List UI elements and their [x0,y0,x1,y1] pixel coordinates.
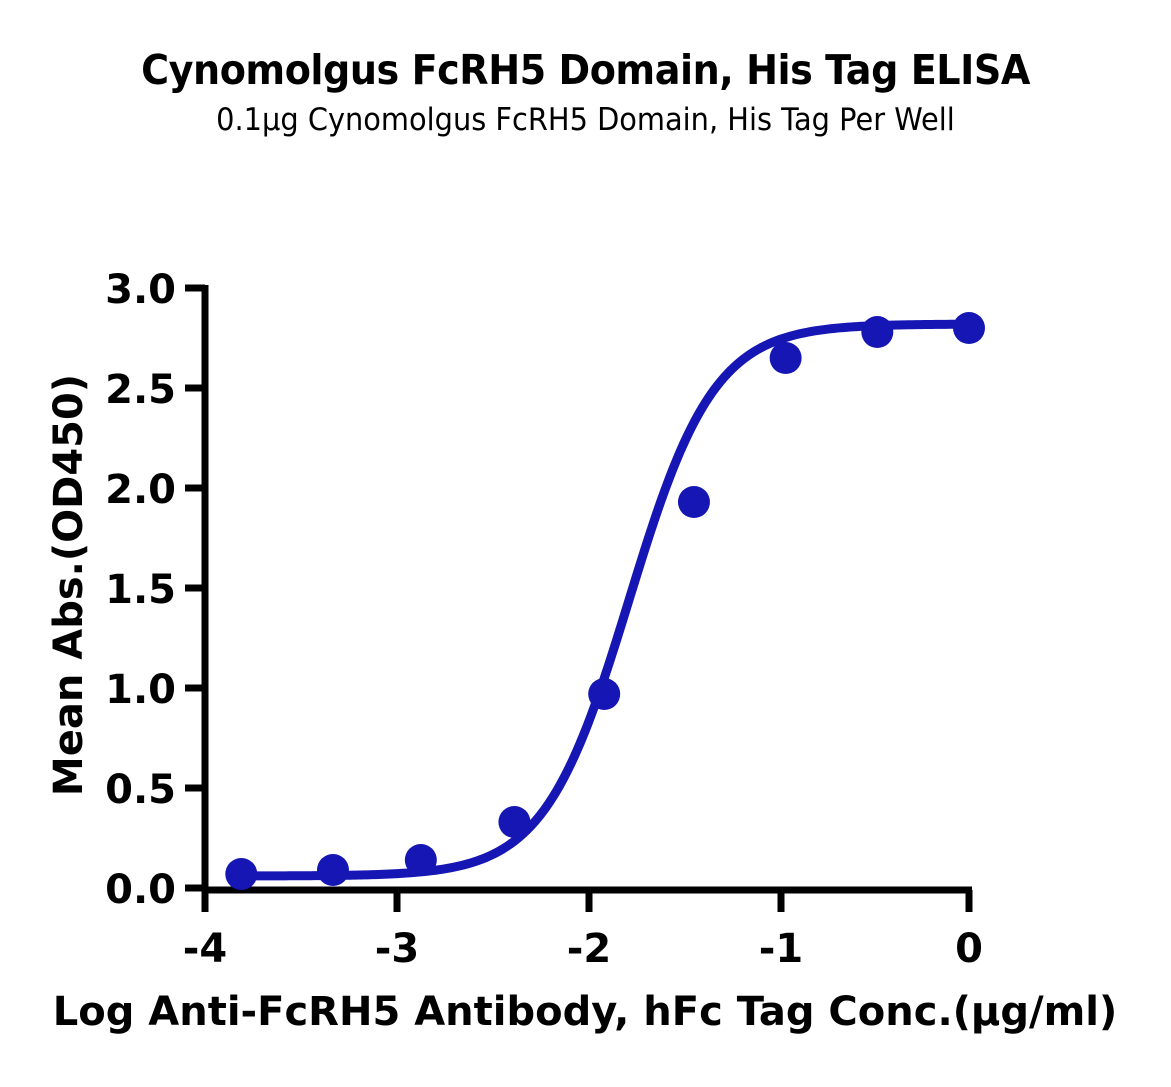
plot-area: 3.0 2.5 2.0 1.5 1.0 0.5 0.0 -4 -3 -2 -1 … [0,0,1171,1087]
data-point [588,678,620,710]
data-point [498,806,530,838]
y-tick-label: 1.5 [105,567,176,613]
data-point [405,844,437,876]
y-axis-tick-labels: 3.0 2.5 2.0 1.5 1.0 0.5 0.0 [105,267,176,913]
y-tick-label: 2.5 [105,367,176,413]
x-axis-tick-labels: -4 -3 -2 -1 0 [183,926,983,972]
x-tick-label: -4 [183,926,227,972]
y-tick-label: 2.0 [105,467,176,513]
y-tick-label: 3.0 [105,267,176,313]
y-tick-label: 0.5 [105,767,176,813]
data-point [953,312,985,344]
x-tick-label: -1 [759,926,803,972]
data-point [317,854,349,886]
data-point [225,858,257,890]
elisa-figure: Cynomolgus FcRH5 Domain, His Tag ELISA 0… [0,0,1171,1087]
y-tick-label: 1.0 [105,667,176,713]
dose-response-curve [241,324,969,876]
data-point-group [225,312,985,890]
x-tick-label: -3 [375,926,419,972]
y-axis-title: Mean Abs.(OD450) [46,374,92,796]
data-point [861,316,893,348]
x-tick-label: 0 [955,926,983,972]
y-tick-label: 0.0 [105,867,176,913]
data-point [770,342,802,374]
x-axis-title: Log Anti-FcRH5 Antibody, hFc Tag Conc.(µ… [53,989,1118,1035]
x-tick-label: -2 [567,926,611,972]
data-point [678,486,710,518]
